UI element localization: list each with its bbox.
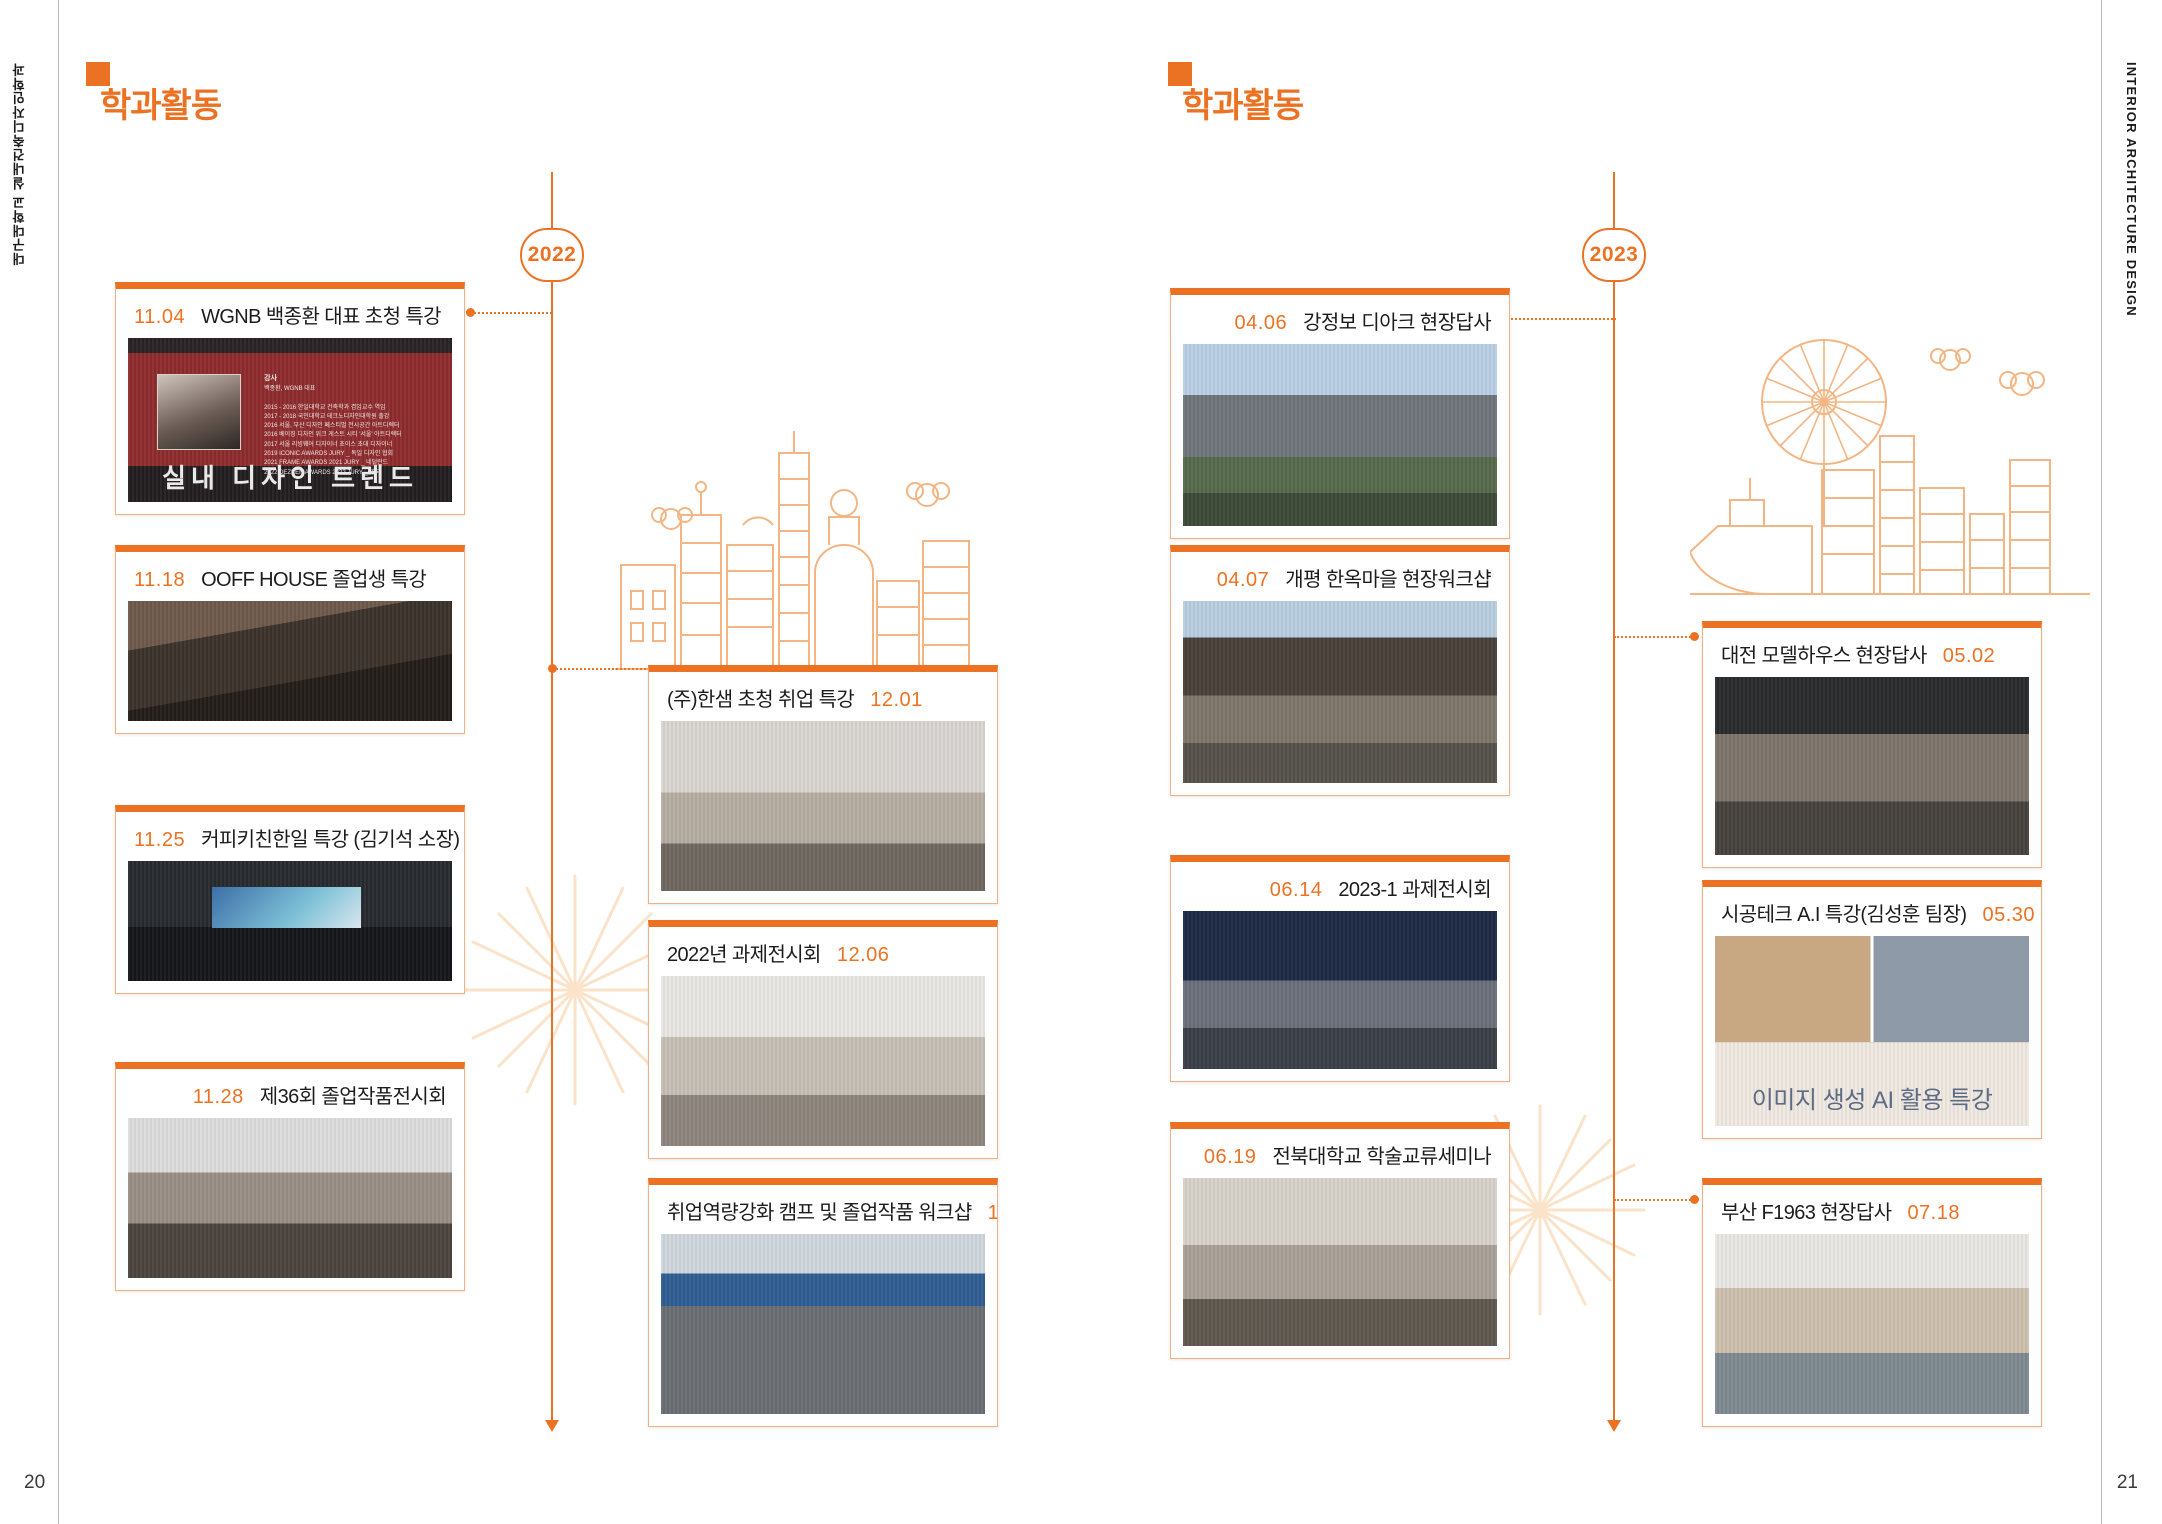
event-date: 06.14 [1270,879,1323,902]
leader-line [552,668,658,670]
event-title: 커피키친한일 특강 (김기석 소장) [201,823,459,852]
timeline-arrow-2022 [545,1420,559,1432]
event-title: OOFF HOUSE 졸업생 특강 [201,563,426,592]
left-margin-rule [58,0,59,1524]
event-card-header: 04.07 개평 한옥마을 현장워크샵 [1171,552,1509,601]
event-date: 12.29 [988,1202,998,1225]
event-title: 제36회 졸업작품전시회 [260,1080,446,1109]
event-card-header: (주)한샘 초청 취업 특강 12.01 [649,672,997,721]
city-skyline-illustration [615,395,975,675]
event-card[interactable]: 부산 F1963 현장답사 07.18 [1702,1178,2042,1427]
event-title: 개평 한옥마을 현장워크샵 [1285,563,1491,592]
event-title: 강정보 디아크 현장답사 [1303,306,1491,335]
event-title: (주)한샘 초청 취업 특강 [667,683,854,712]
event-title: 2022년 과제전시회 [667,938,821,967]
event-title: WGNB 백종환 대표 초청 특강 [201,300,441,329]
ai-image-pair [1715,936,2029,1042]
event-card-header: 부산 F1963 현장답사 07.18 [1703,1185,2041,1234]
event-card[interactable]: 시공테크 A.I 특강(김성훈 팀장) 05.30 이미지 생성 AI 활용 특… [1702,880,2042,1139]
harbor-skyline-illustration [1690,320,2090,600]
event-title: 시공테크 A.I 특강(김성훈 팀장) [1721,898,1966,927]
event-date: 05.30 [1982,904,2035,927]
event-photo [1183,344,1497,526]
event-photo [128,601,452,721]
event-card[interactable]: 취업역량강화 캠프 및 졸업작품 워크샵 12.29 [648,1178,998,1427]
event-card[interactable]: 04.07 개평 한옥마을 현장워크샵 [1170,545,1510,796]
event-date: 04.06 [1235,312,1288,335]
event-card-header: 대전 모델하우스 현장답사 05.02 [1703,628,2041,677]
event-photo: 이미지 생성 AI 활용 특강 [1715,936,2029,1126]
page-number-left: 20 [24,1472,45,1494]
event-card-header: 2022년 과제전시회 12.06 [649,927,997,976]
leader-line [1504,318,1616,320]
event-title: 대전 모델하우스 현장답사 [1721,639,1927,668]
event-card-header: 11.25 커피키친한일 특강 (김기석 소장) [116,812,464,861]
speaker-portrait [157,374,241,449]
year-bubble-2023: 2023 [1582,228,1646,282]
event-title: 전북대학교 학술교류세미나 [1272,1140,1491,1169]
event-title: 취업역량강화 캠프 및 졸업작품 워크샵 [667,1196,972,1225]
event-card-header: 11.18 OOFF HOUSE 졸업생 특강 [116,552,464,601]
page-number-right: 21 [2117,1472,2138,1494]
event-photo: 강사 백종환, WGNB 대표 2015 - 2016 한일대학교 건축학과 겸… [128,338,452,502]
event-photo [1183,1178,1497,1346]
event-card[interactable]: 11.25 커피키친한일 특강 (김기석 소장) [115,805,465,994]
timeline-axis-2023 [1613,172,1615,1422]
event-date: 11.25 [134,829,185,852]
event-card[interactable]: 11.28 제36회 졸업작품전시회 [115,1062,465,1291]
timeline-axis-2022 [551,172,553,1422]
event-card-header: 11.04 WGNB 백종환 대표 초청 특강 [116,289,464,338]
event-card-header: 06.14 2023-1 과제전시회 [1171,862,1509,911]
side-label-department: 대구대학교 실내건축디자인학과 [10,62,29,266]
event-photo [128,1118,452,1278]
ai-photo-caption: 이미지 생성 AI 활용 특강 [1715,1080,2029,1115]
event-date: 11.28 [193,1086,244,1109]
event-card-header: 취업역량강화 캠프 및 졸업작품 워크샵 12.29 [649,1185,997,1234]
event-title: 2023-1 과제전시회 [1338,873,1491,902]
event-photo [661,1234,985,1414]
side-label-english: INTERIOR ARCHITECTURE DESIGN [2124,62,2139,317]
event-card-header: 시공테크 A.I 특강(김성훈 팀장) 05.30 [1703,887,2041,936]
event-card[interactable]: (주)한샘 초청 취업 특강 12.01 [648,665,998,904]
right-margin-rule [2101,0,2102,1524]
poster-headline: 실내 디자인 트렌드 [147,458,432,495]
event-date: 06.19 [1204,1146,1257,1169]
event-card[interactable]: 11.04 WGNB 백종환 대표 초청 특강 강사 백종환, WGNB 대표 … [115,282,465,515]
event-date: 07.18 [1907,1202,1960,1225]
event-card[interactable]: 04.06 강정보 디아크 현장답사 [1170,288,1510,539]
event-card-header: 04.06 강정보 디아크 현장답사 [1171,295,1509,344]
event-date: 04.07 [1217,569,1270,592]
brochure-spread: 대구대학교 실내건축디자인학과 INTERIOR ARCHITECTURE DE… [0,0,2162,1524]
event-card[interactable]: 06.19 전북대학교 학술교류세미나 [1170,1122,1510,1359]
event-card[interactable]: 11.18 OOFF HOUSE 졸업생 특강 [115,545,465,734]
leader-line [1614,1199,1694,1201]
event-card[interactable]: 2022년 과제전시회 12.06 [648,920,998,1159]
event-date: 12.01 [870,689,923,712]
event-title: 부산 F1963 현장답사 [1721,1196,1891,1225]
event-photo [1715,677,2029,855]
right-heading-text: 학과활동 [1182,78,1303,127]
event-photo [661,976,985,1146]
event-photo [1183,601,1497,783]
year-bubble-2022: 2022 [520,228,584,282]
event-card-header: 06.19 전북대학교 학술교류세미나 [1171,1129,1509,1178]
event-photo [128,861,452,981]
event-card-header: 11.28 제36회 졸업작품전시회 [116,1069,464,1118]
event-photo [661,721,985,891]
event-photo [1183,911,1497,1069]
event-date: 12.06 [837,944,890,967]
event-card[interactable]: 06.14 2023-1 과제전시회 [1170,855,1510,1082]
left-heading-text: 학과활동 [100,78,221,127]
event-date: 11.04 [134,306,185,329]
event-date: 11.18 [134,569,185,592]
event-date: 05.02 [1943,645,1996,668]
leader-line [470,312,552,314]
event-card[interactable]: 대전 모델하우스 현장답사 05.02 [1702,621,2042,868]
leader-line [1614,636,1694,638]
event-photo [1715,1234,2029,1414]
timeline-arrow-2023 [1607,1420,1621,1432]
